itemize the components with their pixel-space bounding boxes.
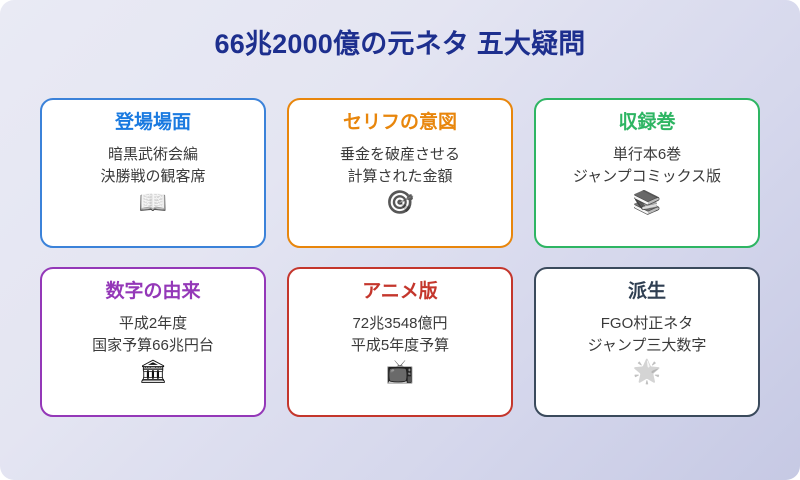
card-body-line-1: 垂金を破産させる (340, 144, 460, 166)
card-body: 暗黒武術会編 決勝戦の観客席 (100, 144, 205, 188)
infographic-root: 66兆2000億の元ネタ 五大疑問 登場場面 暗黒武術会編 決勝戦の観客席 📖 … (0, 0, 800, 480)
card-grid: 登場場面 暗黒武術会編 決勝戦の観客席 📖 セリフの意図 垂金を破産させる 計算… (40, 98, 760, 417)
classical-building-icon: 🏛 (138, 360, 167, 383)
card-body-line-2: 平成5年度予算 (351, 335, 449, 357)
card-heading: 数字の由来 (105, 282, 200, 303)
card-shuuroku-kan[interactable]: 収録巻 単行本6巻 ジャンプコミックス版 📚 (534, 98, 760, 248)
card-body-line-1: 平成2年度 (92, 313, 214, 335)
card-anime-ban[interactable]: アニメ版 72兆3548億円 平成5年度予算 📺 (287, 267, 513, 417)
card-heading: 収録巻 (618, 113, 675, 134)
card-body-line-2: ジャンプ三大数字 (588, 335, 707, 357)
card-serifu-no-ito[interactable]: セリフの意図 垂金を破産させる 計算された金額 🎯 (287, 98, 513, 248)
card-heading: セリフの意図 (343, 113, 457, 134)
card-body-line-1: 単行本6巻 (573, 144, 721, 166)
card-body: 単行本6巻 ジャンプコミックス版 (573, 144, 721, 188)
card-body: FGO村正ネタ ジャンプ三大数字 (588, 313, 707, 357)
card-suuji-no-yurai[interactable]: 数字の由来 平成2年度 国家予算66兆円台 🏛 (40, 267, 266, 417)
card-heading: アニメ版 (362, 282, 438, 303)
television-icon: 📺 (386, 360, 415, 383)
page-title: 66兆2000億の元ネタ 五大疑問 (0, 22, 800, 61)
open-book-icon: 📖 (139, 191, 168, 214)
card-hasei[interactable]: 派生 FGO村正ネタ ジャンプ三大数字 🌟 (534, 267, 760, 417)
card-body-line-1: 72兆3548億円 (351, 313, 449, 335)
card-body-line-2: 国家予算66兆円台 (92, 335, 214, 357)
card-body-line-1: 暗黒武術会編 (100, 144, 205, 166)
card-body-line-1: FGO村正ネタ (588, 313, 707, 335)
books-icon: 📚 (633, 191, 662, 214)
card-body: 平成2年度 国家予算66兆円台 (92, 313, 214, 357)
card-heading: 派生 (628, 282, 666, 303)
card-body: 垂金を破産させる 計算された金額 (340, 144, 460, 188)
card-body-line-2: 計算された金額 (340, 166, 460, 188)
card-heading: 登場場面 (115, 113, 191, 134)
card-body-line-2: ジャンプコミックス版 (573, 166, 721, 188)
card-body: 72兆3548億円 平成5年度予算 (351, 313, 449, 357)
card-body-line-2: 決勝戦の観客席 (100, 166, 205, 188)
card-toujou-bamen[interactable]: 登場場面 暗黒武術会編 決勝戦の観客席 📖 (40, 98, 266, 248)
dart-target-icon: 🎯 (386, 191, 415, 214)
glowing-star-icon: 🌟 (633, 360, 662, 383)
